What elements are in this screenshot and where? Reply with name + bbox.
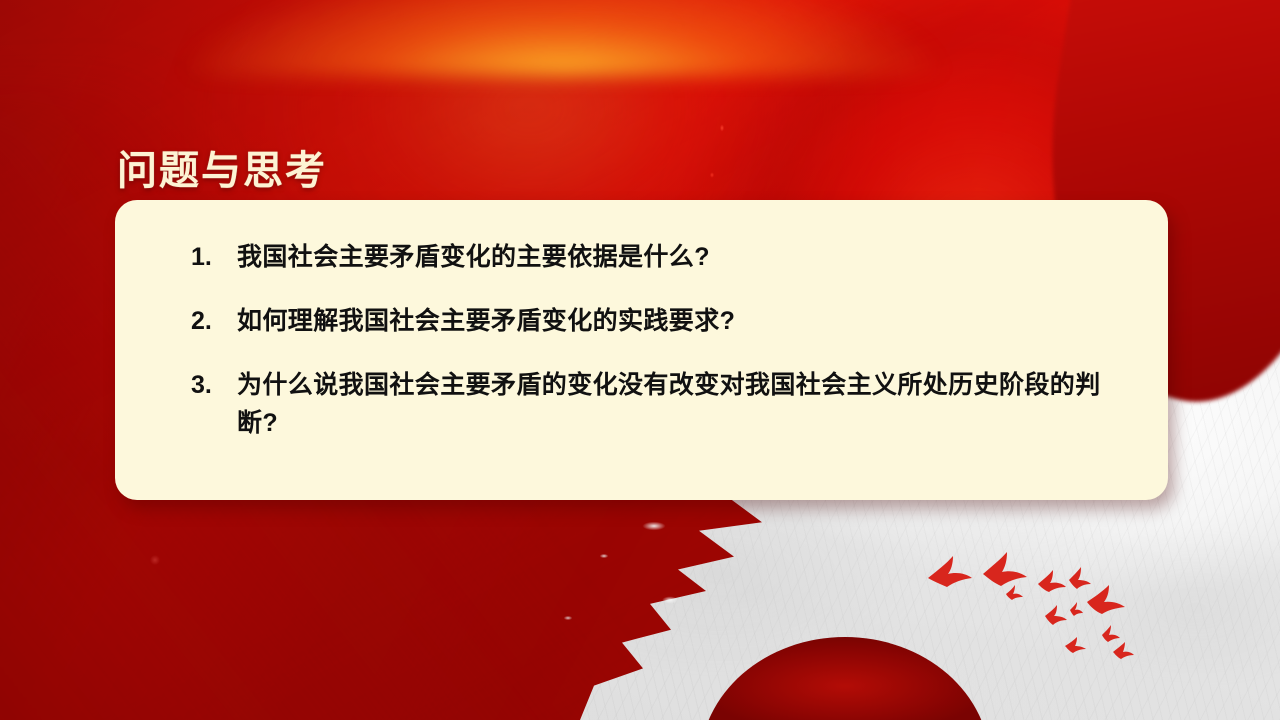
bird-icon [1087,585,1125,614]
bird-icon [1065,637,1086,653]
question-list: 1. 我国社会主要矛盾变化的主要依据是什么? 2. 如何理解我国社会主要矛盾变化… [191,238,1128,442]
list-item-number: 3. [191,366,237,404]
list-item: 1. 我国社会主要矛盾变化的主要依据是什么? [191,238,1128,276]
presentation-slide: 问题与思考 1. 我国社会主要矛盾变化的主要依据是什么? 2. 如何理解我国社会… [0,0,1280,720]
bird-icon [928,556,972,587]
list-item-text: 我国社会主要矛盾变化的主要依据是什么? [237,238,710,276]
page-title: 问题与思考 [117,138,327,196]
bird-icon [1102,625,1120,642]
bird-icon [1006,585,1023,600]
bird-icon [1069,567,1091,589]
list-item: 2. 如何理解我国社会主要矛盾变化的实践要求? [191,302,1128,340]
bird-icon [1045,605,1067,625]
bird-icon [1070,602,1083,616]
list-item-number: 1. [191,238,237,276]
top-warm-glow [154,0,973,76]
list-item: 3. 为什么说我国社会主要矛盾的变化没有改变对我国社会主义所处历史阶段的判断? [191,366,1128,442]
list-item-text: 为什么说我国社会主要矛盾的变化没有改变对我国社会主义所处历史阶段的判断? [237,366,1128,442]
question-card: 1. 我国社会主要矛盾变化的主要依据是什么? 2. 如何理解我国社会主要矛盾变化… [115,200,1168,500]
flying-birds-group [920,540,1220,690]
bird-icon [1113,642,1134,659]
bird-icon [983,552,1027,586]
list-item-number: 2. [191,302,237,340]
bird-icon [1038,570,1066,592]
bird-icon-set [928,552,1134,659]
list-item-text: 如何理解我国社会主要矛盾变化的实践要求? [237,302,735,340]
